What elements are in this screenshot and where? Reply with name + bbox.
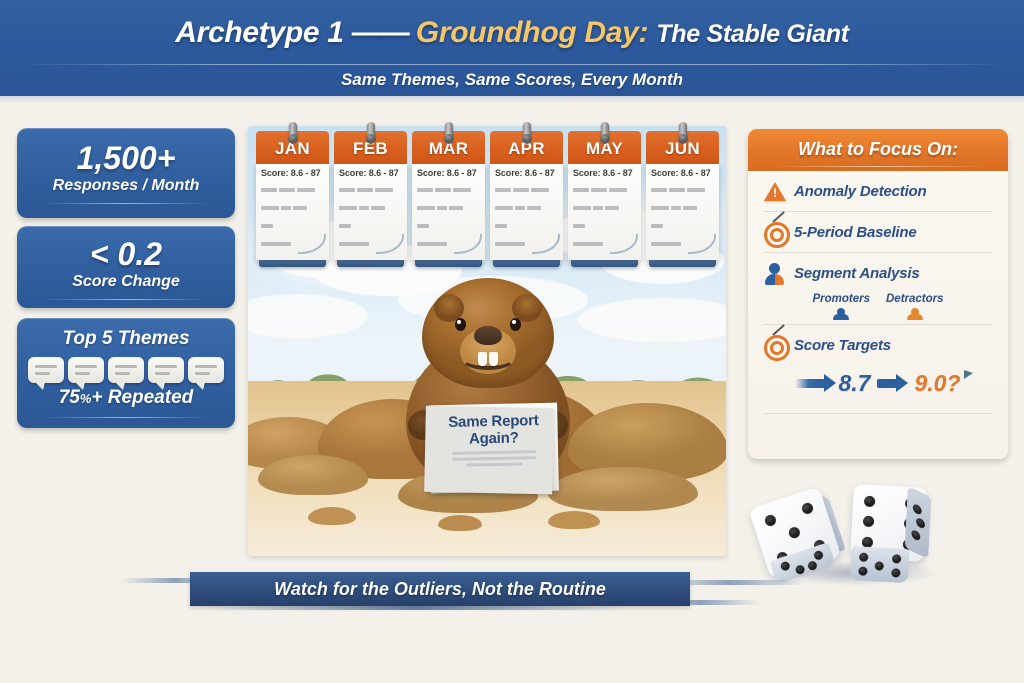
promoter-person-icon bbox=[833, 308, 849, 319]
score-target-progression: 8.7 9.0? bbox=[748, 370, 1008, 397]
focus-item-five-period-baseline: 5-Period Baseline bbox=[748, 212, 1008, 243]
speech-bubble-icon bbox=[188, 357, 224, 383]
stat-label: Responses / Month bbox=[17, 177, 235, 195]
calendar-page-apr: APR Score: 8.6 - 87 bbox=[490, 131, 563, 267]
stat-value: 1,500+ bbox=[17, 140, 235, 177]
calendar-score-label: Score: 8.6 - 87 bbox=[339, 168, 402, 178]
themes-repeat-value: 75 bbox=[59, 387, 80, 408]
detractor-person-icon bbox=[907, 308, 923, 319]
focus-item-score-targets: Score Targets bbox=[748, 325, 1008, 356]
focus-item-anomaly-detection: Anomaly Detection bbox=[748, 171, 1008, 202]
groundhog-tooth bbox=[489, 352, 498, 366]
die-two bbox=[850, 484, 928, 562]
calendar-stack-edge bbox=[493, 260, 560, 267]
pill-label: Promoters bbox=[812, 293, 870, 305]
die-pip bbox=[911, 529, 920, 542]
header-divider bbox=[18, 64, 1006, 65]
die-pip bbox=[859, 552, 868, 561]
focus-item-label: Anomaly Detection bbox=[794, 183, 926, 200]
die-pip bbox=[801, 501, 815, 515]
dirt-clod bbox=[308, 507, 356, 525]
card-underline bbox=[43, 299, 209, 300]
pin-icon bbox=[601, 122, 609, 140]
calendar-stack-edge bbox=[415, 260, 482, 267]
calendar-score-label: Score: 8.6 - 87 bbox=[261, 168, 324, 178]
themes-repeat-unit: % bbox=[80, 391, 92, 406]
calendar-page-mar: MAR Score: 8.6 - 87 bbox=[412, 131, 485, 267]
die-right-side bbox=[905, 486, 932, 559]
bottom-banner: Watch for the Outliers, Not the Routine bbox=[190, 572, 690, 606]
pin-icon bbox=[289, 122, 297, 140]
report-sign: Same Report Again? bbox=[429, 403, 559, 494]
stat-card-top-themes: Top 5 Themes 75%+ Repeated bbox=[17, 318, 235, 428]
calendar-body: Score: 8.6 - 87 bbox=[646, 164, 719, 260]
page-title-dash: —— bbox=[352, 16, 408, 49]
themes-repeat-suffix: + Repeated bbox=[91, 387, 193, 408]
stat-label: Score Change bbox=[17, 273, 235, 291]
target-dart-icon bbox=[764, 221, 786, 243]
focus-item-label: Score Targets bbox=[794, 337, 891, 354]
arrow-right-icon bbox=[877, 379, 897, 388]
die-pip bbox=[780, 560, 791, 571]
groundhog-eye-right bbox=[510, 318, 521, 331]
die-pip bbox=[875, 561, 884, 570]
segment-pill-promoters: Promoters bbox=[799, 288, 883, 310]
groundhog-eye-left bbox=[455, 318, 466, 331]
warning-triangle-icon bbox=[764, 180, 786, 202]
calendar-page-feb: FEB Score: 8.6 - 87 bbox=[334, 131, 407, 267]
speech-bubble-group bbox=[17, 357, 235, 383]
die-pip bbox=[864, 496, 876, 508]
pin-icon bbox=[445, 122, 453, 140]
page-title-accent: Groundhog Day: bbox=[416, 16, 648, 49]
die-pip bbox=[863, 516, 875, 528]
calendar-stack-edge bbox=[337, 260, 404, 267]
calendar-score-label: Score: 8.6 - 87 bbox=[417, 168, 480, 178]
groundhog-tooth bbox=[478, 352, 487, 366]
speech-bubble-icon bbox=[148, 357, 184, 383]
calendar-body: Score: 8.6 - 87 bbox=[334, 164, 407, 260]
die-pip bbox=[763, 514, 777, 528]
groundhog-head bbox=[422, 278, 554, 388]
calendar-score-label: Score: 8.6 - 87 bbox=[573, 168, 636, 178]
sign-text-rule bbox=[452, 450, 536, 455]
focus-panel: What to Focus On: Anomaly Detection 5-Pe… bbox=[748, 129, 1008, 459]
person-icon bbox=[764, 262, 786, 284]
pin-icon bbox=[523, 122, 531, 140]
die-pip bbox=[891, 568, 900, 577]
focus-divider bbox=[764, 413, 992, 414]
die-pip bbox=[813, 550, 824, 561]
die-pip bbox=[807, 560, 818, 571]
page-subtitle: Same Themes, Same Scores, Every Month bbox=[0, 70, 1024, 90]
calendar-body: Score: 8.6 - 87 bbox=[490, 164, 563, 260]
calendar-body: Score: 8.6 - 87 bbox=[412, 164, 485, 260]
calendar-score-label: Score: 8.6 - 87 bbox=[495, 168, 558, 178]
pin-icon bbox=[367, 122, 375, 140]
page-title-tail: The Stable Giant bbox=[656, 20, 848, 48]
calendar-body: Score: 8.6 - 87 bbox=[568, 164, 641, 260]
focus-item-label: 5-Period Baseline bbox=[794, 224, 916, 241]
sign-text-rule bbox=[466, 462, 522, 466]
score-goal-value: 9.0? bbox=[914, 370, 960, 397]
pill-label: Detractors bbox=[886, 293, 944, 305]
dirt-clod bbox=[548, 511, 600, 529]
bottom-banner-text: Watch for the Outliers, Not the Routine bbox=[190, 572, 690, 606]
arrow-right-icon bbox=[795, 379, 825, 388]
stat-value: < 0.2 bbox=[17, 236, 235, 273]
page-header: Archetype 1 —— Groundhog Day: The Stable… bbox=[0, 0, 1024, 102]
die-pip bbox=[892, 554, 901, 563]
speech-bubble-icon bbox=[68, 357, 104, 383]
die-pip bbox=[787, 526, 801, 540]
die-front-side bbox=[850, 546, 910, 583]
stat-card-score-change: < 0.2 Score Change bbox=[17, 226, 235, 308]
pin-icon bbox=[679, 122, 687, 140]
calendar-page-jun: JUN Score: 8.6 - 87 bbox=[646, 131, 719, 267]
page-title: Archetype 1 —— Groundhog Day: The Stable… bbox=[0, 16, 1024, 50]
calendar-stack-edge bbox=[571, 260, 638, 267]
groundhog-mouth bbox=[461, 348, 515, 370]
themes-title: Top 5 Themes bbox=[17, 328, 235, 350]
die-pip bbox=[858, 566, 867, 575]
speech-bubble-icon bbox=[28, 357, 64, 383]
speech-bubble-icon bbox=[108, 357, 144, 383]
calendar-body: Score: 8.6 - 87 bbox=[256, 164, 329, 260]
calendar-strip: JAN Score: 8.6 - 87 FEB Score: 8.6 - 87 bbox=[256, 131, 719, 267]
calendar-page-jan: JAN Score: 8.6 - 87 bbox=[256, 131, 329, 267]
card-underline bbox=[43, 203, 209, 204]
focus-panel-title: What to Focus On: bbox=[748, 129, 1008, 171]
calendar-stack-edge bbox=[259, 260, 326, 267]
target-dart-icon bbox=[764, 334, 786, 356]
page-title-lead: Archetype 1 bbox=[175, 16, 343, 49]
card-underline bbox=[43, 417, 209, 418]
sign-text-rule bbox=[452, 456, 536, 461]
focus-item-label: Segment Analysis bbox=[794, 265, 919, 282]
groundhog-nose bbox=[474, 326, 502, 345]
themes-repeat-rate: 75%+ Repeated bbox=[17, 387, 235, 409]
dirt-clod bbox=[438, 515, 482, 531]
die-pip bbox=[916, 517, 925, 530]
sign-line-2: Again? bbox=[436, 430, 552, 449]
calendar-score-label: Score: 8.6 - 87 bbox=[651, 168, 714, 178]
calendar-stack-edge bbox=[649, 260, 716, 267]
focus-item-segment-analysis: Segment Analysis bbox=[748, 253, 1008, 284]
stat-card-responses-per-month: 1,500+ Responses / Month bbox=[17, 128, 235, 218]
die-pip bbox=[913, 503, 922, 516]
die-pip bbox=[794, 564, 805, 575]
segment-pill-detractors: Detractors bbox=[873, 288, 957, 310]
calendar-page-may: MAY Score: 8.6 - 87 bbox=[568, 131, 641, 267]
segment-pill-group: Promoters Detractors bbox=[748, 288, 1008, 310]
score-current-value: 8.7 bbox=[838, 370, 870, 397]
